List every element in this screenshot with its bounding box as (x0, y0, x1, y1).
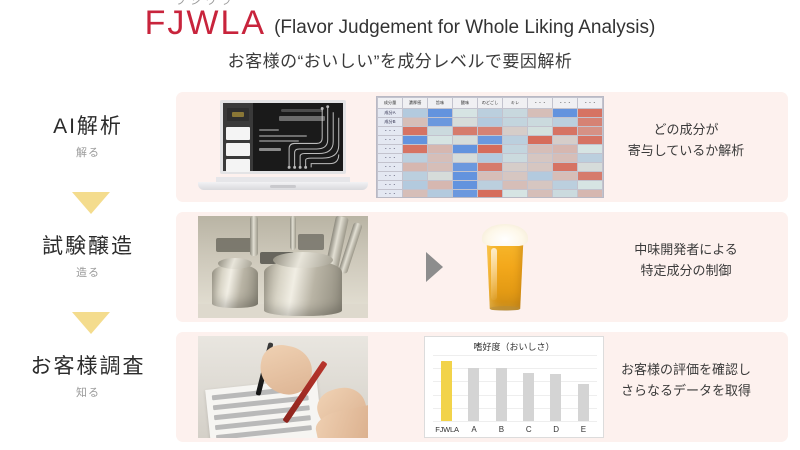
beer-foam (482, 224, 528, 246)
row-ai-analysis: 成分量濃厚感旨味酸味のどごしキレ・・・・・・・・・ 成分A成分B・・・・・・・・… (176, 92, 788, 202)
heatmap-cell (453, 127, 478, 136)
row-customer-survey: 嗜好度（おいしさ） FJWLAABCDE お客様の評価を確認し さらなるデータを… (176, 332, 788, 442)
heatmap-row: ・・・ (378, 190, 603, 199)
heatmap-cell (428, 172, 453, 181)
heatmap-cell (428, 181, 453, 190)
tank-lid (273, 252, 333, 268)
chart-bar (441, 361, 452, 421)
heatmap-cell (503, 136, 528, 145)
heatmap-row-label: ・・・ (378, 154, 403, 163)
chart-bar (550, 374, 561, 421)
heatmap-cell (553, 109, 578, 118)
sidebar-card (226, 127, 250, 140)
heatmap-row: ・・・ (378, 127, 603, 136)
chart-bar-column (490, 355, 513, 421)
heatmap-cell (453, 163, 478, 172)
heatmap-cell (528, 118, 553, 127)
chart-x-label: FJWLA (435, 425, 458, 434)
brand-expansion: (Flavor Judgement for Whole Liking Analy… (274, 17, 655, 42)
heatmap-cell (478, 109, 503, 118)
heatmap-table: 成分量濃厚感旨味酸味のどごしキレ・・・・・・・・・ 成分A成分B・・・・・・・・… (377, 97, 603, 198)
chart-bar-column (517, 355, 540, 421)
heatmap-row-label: ・・・ (378, 163, 403, 172)
heatmap-cell (453, 181, 478, 190)
heatmap-cell (403, 154, 428, 163)
heatmap-cell (528, 172, 553, 181)
heatmap-cell (503, 190, 528, 199)
heatmap-cell (453, 190, 478, 199)
stage-subtitle: 知る (0, 384, 176, 400)
heatmap-row-label: ・・・ (378, 190, 403, 199)
heatmap-column-header: キレ (503, 98, 528, 109)
play-triangle-right-icon (426, 252, 443, 282)
chart-bar-column (545, 355, 568, 421)
chart-x-label: C (517, 425, 540, 434)
brewery-pipe (290, 216, 296, 250)
chart-bar (468, 368, 479, 421)
heatmap-cell (503, 163, 528, 172)
heatmap-column-header: ・・・ (578, 98, 603, 109)
heatmap-row: ・・・ (378, 181, 603, 190)
heatmap-cell (528, 154, 553, 163)
heatmap-cell (453, 154, 478, 163)
heatmap-cell (403, 118, 428, 127)
chart-bar (578, 384, 589, 421)
heatmap-cell (528, 163, 553, 172)
heatmap-cell (503, 127, 528, 136)
stage-title: 試験醸造 (0, 230, 176, 260)
caption-line: お客様の評価を確認し (592, 360, 780, 381)
chart-bar-column (435, 355, 458, 421)
heatmap-cell (553, 181, 578, 190)
heatmap-cell (578, 181, 603, 190)
heatmap-cell (528, 136, 553, 145)
chart-bar (523, 373, 534, 421)
stage-title: AI解析 (0, 110, 176, 140)
heatmap-row-label: 成分B (378, 118, 403, 127)
heatmap-cell (528, 145, 553, 154)
heatmap-cell (478, 145, 503, 154)
heatmap-cell (578, 172, 603, 181)
heatmap-cell (478, 136, 503, 145)
survey-writing-image (198, 336, 368, 438)
heatmap-column-header: 旨味 (428, 98, 453, 109)
heatmap-row: 成分A (378, 109, 603, 118)
heatmap-cell (553, 154, 578, 163)
chart-bars (433, 355, 597, 421)
header: フジワラ FJWLA (Flavor Judgement for Whole L… (0, 6, 800, 72)
heatmap-row: ・・・ (378, 145, 603, 154)
caption-line: 中味開発者による (592, 240, 780, 261)
heatmap-cell (478, 127, 503, 136)
heatmap-column-header: のどごし (478, 98, 503, 109)
brand-wrap: フジワラ FJWLA (145, 6, 266, 42)
heatmap-cell (453, 145, 478, 154)
gridline (433, 421, 597, 422)
heatmap-row: ・・・ (378, 154, 603, 163)
heatmap-row-label: ・・・ (378, 127, 403, 136)
heatmap-cell (578, 109, 603, 118)
heatmap-cell (403, 172, 428, 181)
heatmap-row-label: ・・・ (378, 145, 403, 154)
heatmap-cell (528, 127, 553, 136)
beer-glass (482, 224, 528, 312)
chart-x-label: A (463, 425, 486, 434)
heatmap-row-label: ・・・ (378, 136, 403, 145)
heatmap-cell (453, 109, 478, 118)
heatmap-column-header: ・・・ (528, 98, 553, 109)
laptop-screen (220, 100, 346, 174)
heatmap-cell (478, 118, 503, 127)
circuit-pattern-icon (283, 103, 343, 171)
heatmap-cell (453, 136, 478, 145)
beer-glass-highlight (491, 248, 497, 300)
preference-bar-chart: 嗜好度（おいしさ） FJWLAABCDE (424, 336, 604, 438)
heatmap-cell (503, 118, 528, 127)
heatmap-cell (453, 172, 478, 181)
heatmap-body: 成分A成分B・・・・・・・・・・・・・・・・・・・・・・・・ (378, 109, 603, 199)
heatmap-cell (478, 154, 503, 163)
heatmap-cell (553, 127, 578, 136)
brand-ruby: フジワラ (175, 0, 235, 8)
heatmap-cell (478, 172, 503, 181)
brew-tank (264, 260, 342, 316)
heatmap-cell (503, 145, 528, 154)
chart-x-label: D (545, 425, 568, 434)
heatmap-cell (503, 154, 528, 163)
caption-line: どの成分が (592, 120, 780, 141)
heatmap-row: ・・・ (378, 136, 603, 145)
app-logo-icon (227, 108, 249, 121)
heatmap-cell (553, 172, 578, 181)
beer-result-image (414, 216, 564, 318)
heatmap-row: ・・・ (378, 172, 603, 181)
heatmap-cell (403, 145, 428, 154)
chart-x-axis-labels: FJWLAABCDE (433, 423, 597, 435)
heatmap-cell (428, 118, 453, 127)
heatmap-cell (578, 190, 603, 199)
heatmap-cell (403, 127, 428, 136)
heatmap-cell (403, 181, 428, 190)
heatmap-cell (553, 118, 578, 127)
caption-line: さらなるデータを取得 (592, 381, 780, 402)
heatmap-cell (503, 109, 528, 118)
heatmap-cell (453, 118, 478, 127)
caption-customer-survey: お客様の評価を確認し さらなるデータを取得 (592, 360, 780, 402)
caption-line: 特定成分の制御 (592, 261, 780, 282)
caption-line: 寄与しているか解析 (592, 141, 780, 162)
heatmap-cell (528, 190, 553, 199)
laptop-image (198, 98, 368, 196)
brew-tank (212, 264, 258, 308)
app-text-line (259, 148, 281, 151)
heatmap-cell (478, 181, 503, 190)
heatmap-cell (403, 109, 428, 118)
heatmap-cell (428, 127, 453, 136)
title-line: フジワラ FJWLA (Flavor Judgement for Whole L… (0, 6, 800, 42)
heatmap-header-row: 成分量濃厚感旨味酸味のどごしキレ・・・・・・・・・ (378, 98, 603, 109)
heatmap-cell (428, 154, 453, 163)
heatmap-cell (528, 181, 553, 190)
heatmap-row: 成分B (378, 118, 603, 127)
chart-bar (496, 368, 507, 421)
stage-subtitle: 造る (0, 264, 176, 280)
heatmap-cell (578, 163, 603, 172)
heatmap-cell (428, 163, 453, 172)
heatmap-cell (403, 136, 428, 145)
heatmap-cell (478, 163, 503, 172)
chart-bar-column (463, 355, 486, 421)
heatmap-cell (553, 163, 578, 172)
heatmap-cell (428, 109, 453, 118)
brewery-pipe (250, 216, 258, 256)
sidebar-card (226, 143, 250, 156)
heatmap-cell (428, 136, 453, 145)
chart-plot-area (433, 355, 597, 421)
heatmap-row-label: ・・・ (378, 181, 403, 190)
heatmap-cell (478, 190, 503, 199)
heatmap-column-header: 濃厚感 (403, 98, 428, 109)
laptop-notch (270, 185, 296, 188)
heatmap-cell (503, 172, 528, 181)
heatmap-cell (428, 145, 453, 154)
infographic-page: フジワラ FJWLA (Flavor Judgement for Whole L… (0, 0, 800, 450)
caption-test-brewing: 中味開発者による 特定成分の制御 (592, 240, 780, 282)
header-subtitle: お客様の“おいしい”を成分レベルで要因解析 (0, 47, 800, 72)
beer-glass-base (490, 306, 520, 311)
brewery-machinery (298, 234, 324, 250)
heatmap-cell (553, 145, 578, 154)
row-test-brewing: 中味開発者による 特定成分の制御 (176, 212, 788, 322)
heatmap-cell (528, 109, 553, 118)
brewery-tanks-image (198, 216, 368, 318)
heatmap-cell (403, 163, 428, 172)
heatmap-cell (553, 136, 578, 145)
caption-ai-analysis: どの成分が 寄与しているか解析 (592, 120, 780, 162)
correlation-heatmap-table: 成分量濃厚感旨味酸味のどごしキレ・・・・・・・・・ 成分A成分B・・・・・・・・… (376, 96, 604, 198)
heatmap-corner-header: 成分量 (378, 98, 403, 109)
heatmap-row: ・・・ (378, 163, 603, 172)
tank-lid (218, 258, 252, 269)
heatmap-row-label: 成分A (378, 109, 403, 118)
down-arrow-icon (72, 192, 110, 214)
app-sidebar (223, 103, 253, 171)
heatmap-column-header: ・・・ (553, 98, 578, 109)
stage-label-ai-analysis: AI解析 解る (0, 110, 176, 160)
heatmap-cell (553, 190, 578, 199)
heatmap-cell (503, 181, 528, 190)
brand-name: FJWLA (145, 4, 266, 42)
heatmap-cell (428, 190, 453, 199)
app-text-line (259, 129, 279, 131)
stage-label-customer-survey: お客様調査 知る (0, 350, 176, 400)
stage-label-test-brewing: 試験醸造 造る (0, 230, 176, 280)
stage-title: お客様調査 (0, 350, 176, 380)
heatmap-row-label: ・・・ (378, 172, 403, 181)
chart-x-label: B (490, 425, 513, 434)
heatmap-cell (403, 190, 428, 199)
stage-subtitle: 解る (0, 144, 176, 160)
sidebar-card (226, 159, 250, 172)
heatmap-column-header: 酸味 (453, 98, 478, 109)
chart-title: 嗜好度（おいしさ） (425, 340, 603, 353)
down-arrow-icon (72, 312, 110, 334)
chart-x-label: E (572, 425, 595, 434)
